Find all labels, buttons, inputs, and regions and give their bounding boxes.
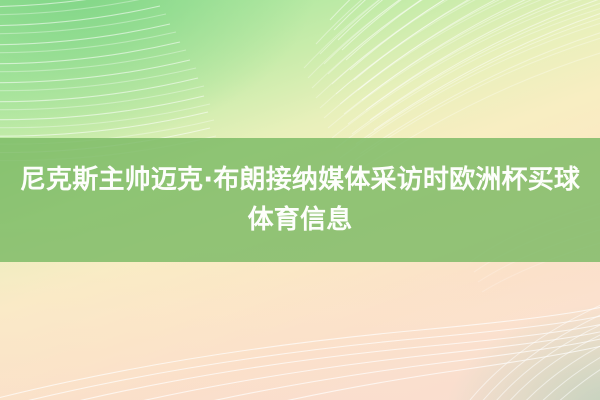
headline-text-block: 尼克斯主帅迈克·布朗接纳媒体采访时欧洲杯买球 体育信息 <box>0 138 600 262</box>
headline-line-2: 体育信息 <box>248 200 353 240</box>
banner-image: 尼克斯主帅迈克·布朗接纳媒体采访时欧洲杯买球 体育信息 <box>0 0 600 400</box>
headline-line-1: 尼克斯主帅迈克·布朗接纳媒体采访时欧洲杯买球 <box>20 160 580 200</box>
